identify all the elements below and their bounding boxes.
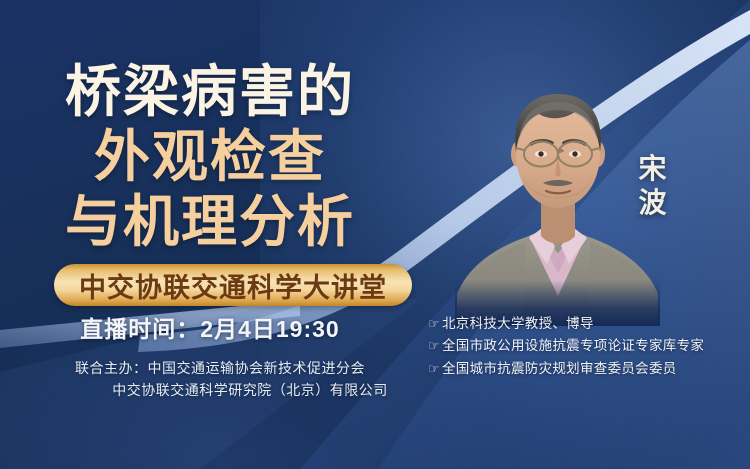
pointing-hand-icon: ☞	[428, 358, 440, 379]
title-line-1: 桥梁病害的	[0, 60, 420, 125]
credential-text: 全国市政公用设施抗震专项论证专家库专家	[442, 335, 704, 357]
series-banner-label: 中交协联交通科学大讲堂	[79, 266, 387, 305]
speaker-credentials: ☞ 北京科技大学教授、博导 ☞ 全国市政公用设施抗震专项论证专家库专家 ☞ 全国…	[428, 313, 746, 380]
page-title: 桥梁病害的 外观检查 与机理分析	[0, 60, 420, 255]
credential-text: 北京科技大学教授、博导	[442, 313, 594, 335]
title-line-2: 外观检查	[0, 125, 420, 190]
pupil-right	[572, 151, 577, 156]
series-banner: 中交协联交通科学大讲堂	[54, 264, 412, 306]
webinar-poster: 桥梁病害的 外观检查 与机理分析 中交协联交通科学大讲堂 直播时间：2月4日19…	[0, 0, 750, 469]
credential-item: ☞ 全国市政公用设施抗震专项论证专家库专家	[428, 335, 746, 357]
speaker-name-char-1: 宋	[628, 152, 678, 186]
organizers: 联合主办：中国交通运输协会新技术促进分会 中交协联交通科学研究院（北京）有限公司	[0, 358, 440, 401]
organizer-line-2: 中交协联交通科学研究院（北京）有限公司	[0, 380, 440, 402]
title-line-3: 与机理分析	[0, 190, 420, 255]
organizer-line-1: 联合主办：中国交通运输协会新技术促进分会	[0, 358, 440, 380]
credential-item: ☞ 全国城市抗震防灾规划审查委员会委员	[428, 358, 746, 380]
speaker-name-char-2: 波	[628, 186, 678, 220]
pointing-hand-icon: ☞	[428, 335, 440, 356]
credential-text: 全国城市抗震防灾规划审查委员会委员	[442, 358, 677, 380]
live-time: 直播时间：2月4日19:30	[0, 310, 420, 344]
pointing-hand-icon: ☞	[428, 313, 440, 334]
pupil-left	[538, 151, 543, 156]
credential-item: ☞ 北京科技大学教授、博导	[428, 313, 746, 335]
speaker-name: 宋 波	[628, 152, 678, 220]
